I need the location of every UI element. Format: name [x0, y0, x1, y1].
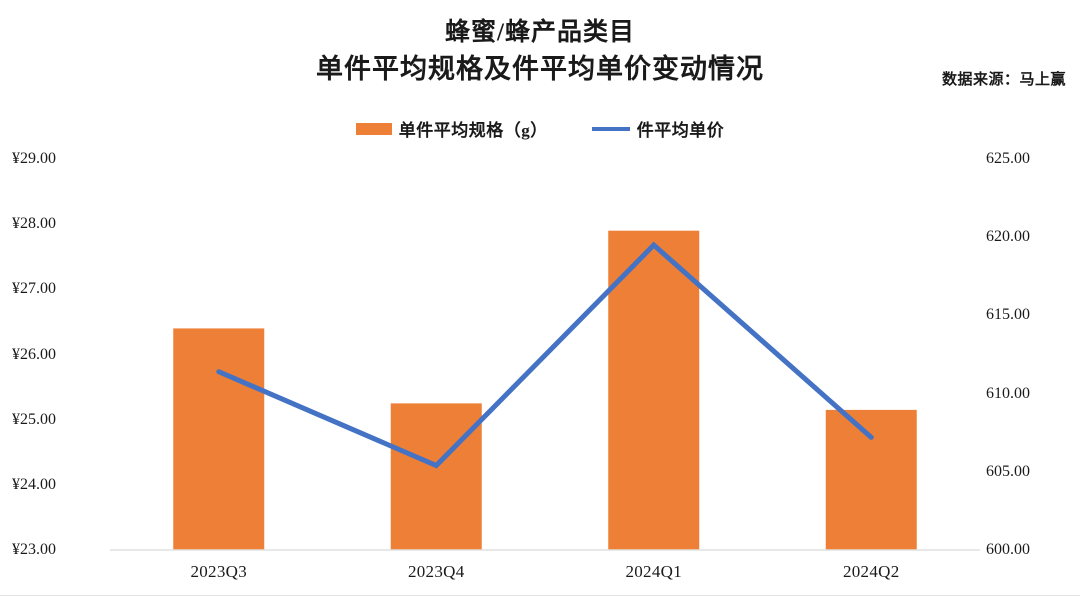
left-axis-tick-1: ¥28.00 [12, 216, 56, 232]
bar-2023Q4[interactable] [391, 403, 482, 550]
plot-area [110, 150, 980, 560]
bar-2023Q3[interactable] [173, 328, 264, 550]
left-axis-tick-6: ¥23.00 [12, 542, 56, 558]
line-series-path[interactable] [219, 245, 872, 466]
plot-svg [110, 150, 980, 560]
legend-label-bar-series: 单件平均规格（g） [399, 116, 548, 141]
left-axis-tick-2: ¥27.00 [12, 281, 56, 297]
right-axis-tick-3: 610.00 [986, 386, 1030, 402]
left-axis-tick-4: ¥25.00 [12, 412, 56, 428]
legend-item-bar-series[interactable]: 单件平均规格（g） [356, 116, 548, 141]
chart-title-line-1: 蜂蜜/蜂产品类目 [0, 16, 1080, 50]
chart-container: 蜂蜜/蜂产品类目 单件平均规格及件平均单价变动情况 数据来源：马上赢 单件平均规… [0, 0, 1080, 596]
data-source-note: 数据来源：马上赢 [942, 68, 1066, 89]
chart-legend: 单件平均规格（g） 件平均单价 [0, 116, 1080, 141]
chart-title-line-2: 单件平均规格及件平均单价变动情况 [0, 50, 1080, 88]
bar-series-group [173, 231, 917, 550]
line-series-group [219, 245, 872, 466]
right-axis-tick-4: 605.00 [986, 464, 1030, 480]
bar-2024Q2[interactable] [826, 410, 917, 550]
left-axis-tick-0: ¥29.00 [12, 151, 56, 167]
legend-label-line-series: 件平均单价 [637, 116, 725, 141]
legend-item-line-series[interactable]: 件平均单价 [592, 116, 725, 141]
chart-title-block: 蜂蜜/蜂产品类目 单件平均规格及件平均单价变动情况 [0, 16, 1080, 88]
right-axis-tick-5: 600.00 [986, 542, 1030, 558]
category-label-2024Q2: 2024Q2 [763, 562, 981, 582]
right-axis-tick-0: 625.00 [986, 151, 1030, 167]
legend-line-swatch-icon [592, 127, 630, 131]
left-axis-tick-5: ¥24.00 [12, 477, 56, 493]
right-axis-tick-1: 620.00 [986, 229, 1030, 245]
category-label-2023Q3: 2023Q3 [110, 562, 328, 582]
legend-bar-swatch-icon [356, 123, 392, 135]
category-axis-labels: 2023Q32023Q42024Q12024Q2 [110, 562, 980, 582]
category-label-2023Q4: 2023Q4 [328, 562, 546, 582]
category-label-2024Q1: 2024Q1 [545, 562, 763, 582]
left-axis-tick-3: ¥26.00 [12, 347, 56, 363]
right-axis-tick-2: 615.00 [986, 307, 1030, 323]
